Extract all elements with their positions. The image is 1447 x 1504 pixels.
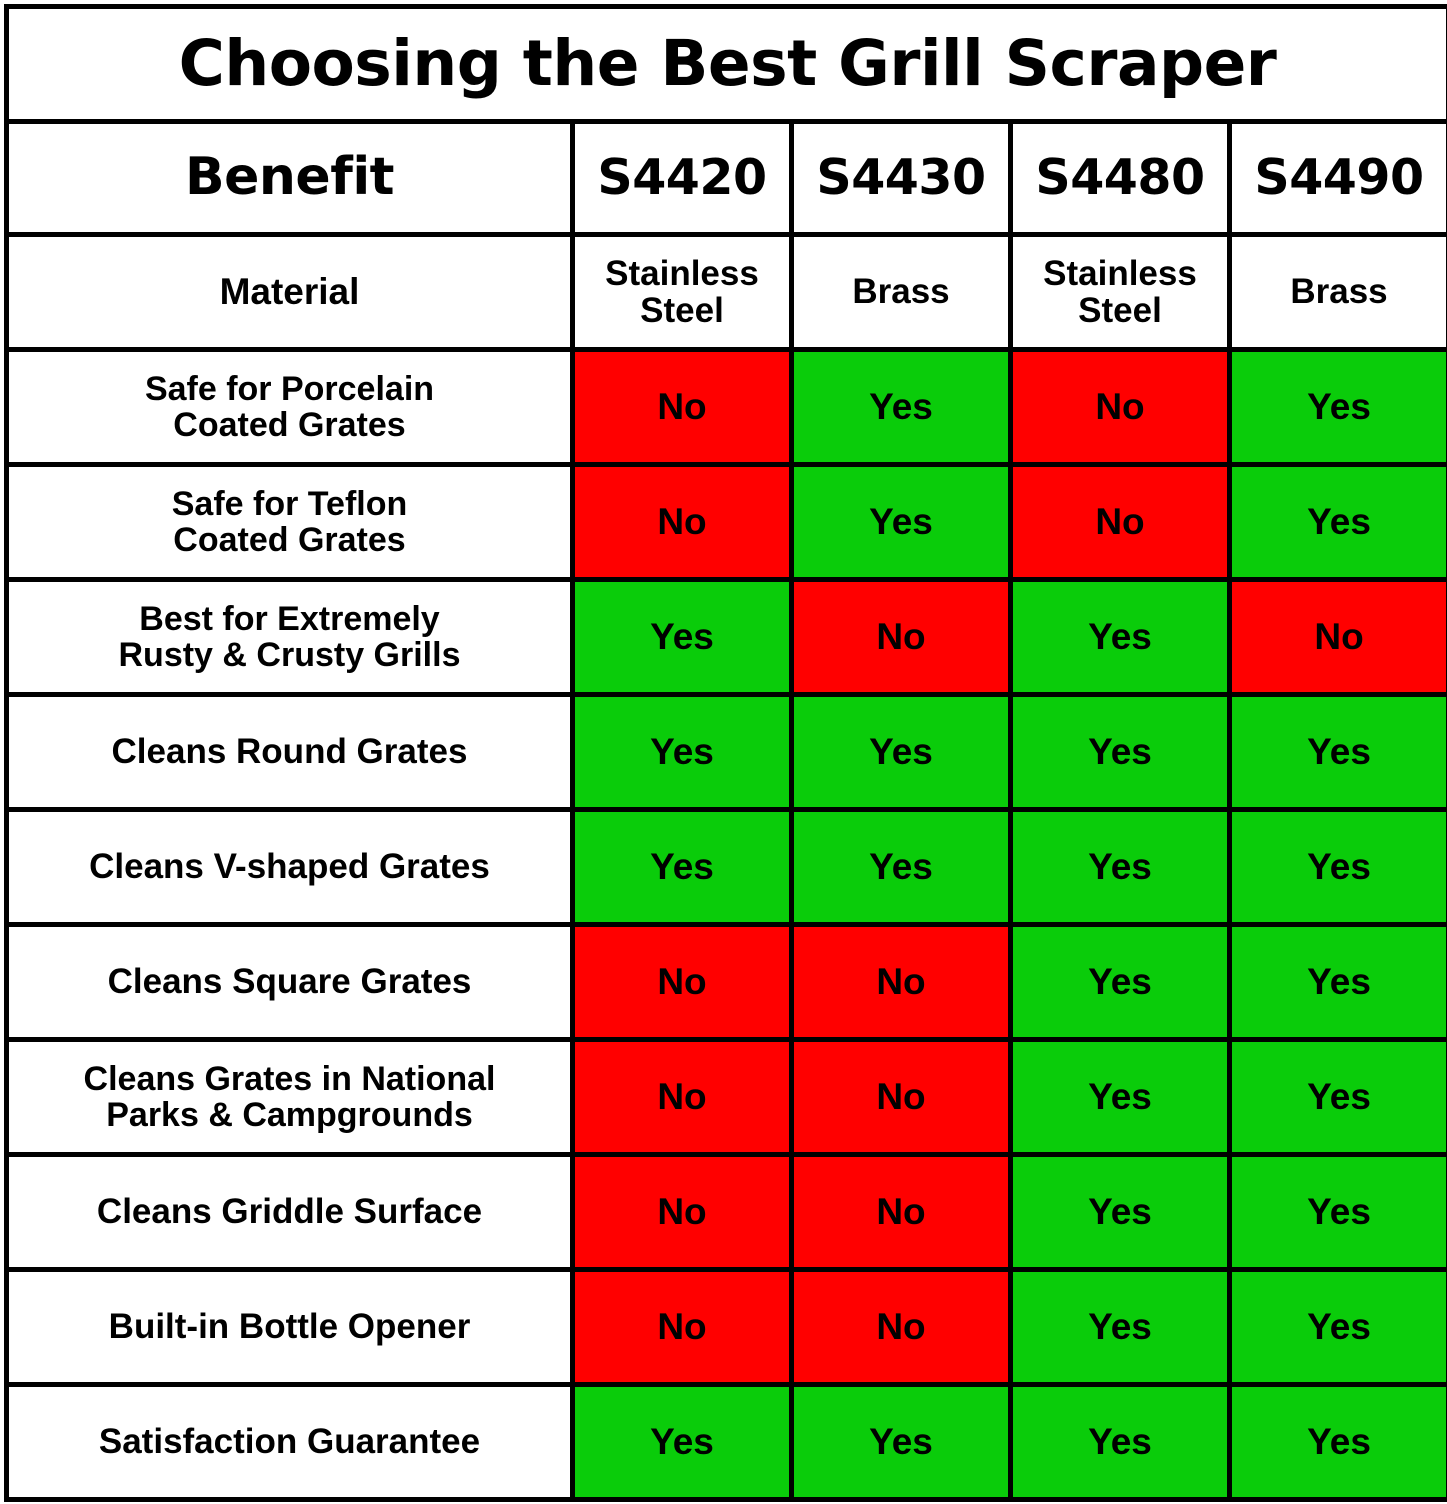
cell-value: No — [1011, 465, 1230, 580]
table-row: Cleans Griddle Surface No No Yes Yes — [7, 1155, 1447, 1270]
cell-material-s4490: Brass — [1230, 235, 1447, 350]
cell-value: Yes — [1230, 350, 1447, 465]
header-product-s4480: S4480 — [1011, 122, 1230, 235]
row-label: Cleans Round Grates — [7, 695, 573, 810]
cell-value: Yes — [573, 695, 792, 810]
cell-value: No — [573, 350, 792, 465]
cell-value: Yes — [1230, 695, 1447, 810]
cell-value: Yes — [792, 1385, 1011, 1500]
cell-value: No — [573, 1040, 792, 1155]
cell-value: Yes — [792, 350, 1011, 465]
page-title: Choosing the Best Grill Scraper — [7, 7, 1447, 122]
cell-value: No — [792, 1270, 1011, 1385]
cell-value: No — [792, 1040, 1011, 1155]
cell-value: No — [1011, 350, 1230, 465]
cell-material-s4420: Stainless Steel — [573, 235, 792, 350]
table-row: Cleans Round Grates Yes Yes Yes Yes — [7, 695, 1447, 810]
header-product-s4430: S4430 — [792, 122, 1011, 235]
row-label-line2: Parks & Campgrounds — [106, 1096, 473, 1134]
cell-value: No — [573, 925, 792, 1040]
cell-value: Yes — [1011, 1040, 1230, 1155]
row-label-line1: Cleans Grates in National — [84, 1060, 496, 1098]
cell-value: Yes — [1230, 925, 1447, 1040]
cell-value: Yes — [1011, 1155, 1230, 1270]
row-label: Satisfaction Guarantee — [7, 1385, 573, 1500]
row-label-line2: Rusty & Crusty Grills — [119, 636, 461, 674]
row-label-line1: Safe for Porcelain — [145, 370, 434, 408]
table-row: Best for Extremely Rusty & Crusty Grills… — [7, 580, 1447, 695]
cell-value: Yes — [1011, 1270, 1230, 1385]
cell-value: Yes — [1230, 1385, 1447, 1500]
cell-value: No — [573, 1270, 792, 1385]
row-label: Safe for Teflon Coated Grates — [7, 465, 573, 580]
cell-value: Yes — [792, 810, 1011, 925]
table-row: Safe for Teflon Coated Grates No Yes No … — [7, 465, 1447, 580]
cell-value: Yes — [1230, 1040, 1447, 1155]
row-label: Cleans V-shaped Grates — [7, 810, 573, 925]
row-label-line1: Best for Extremely — [139, 600, 439, 638]
cell-value: Yes — [1230, 465, 1447, 580]
row-label-line1: Safe for Teflon — [172, 485, 408, 523]
cell-value: No — [792, 1155, 1011, 1270]
row-label: Cleans Square Grates — [7, 925, 573, 1040]
cell-value: Yes — [573, 810, 792, 925]
cell-value: Yes — [1230, 1270, 1447, 1385]
table-row: Satisfaction Guarantee Yes Yes Yes Yes — [7, 1385, 1447, 1500]
cell-value: No — [573, 1155, 792, 1270]
row-label: Best for Extremely Rusty & Crusty Grills — [7, 580, 573, 695]
cell-value: Yes — [1011, 695, 1230, 810]
cell-material-s4430: Brass — [792, 235, 1011, 350]
cell-value: No — [573, 465, 792, 580]
table-row: Cleans Square Grates No No Yes Yes — [7, 925, 1447, 1040]
cell-value: Yes — [792, 695, 1011, 810]
row-label: Built-in Bottle Opener — [7, 1270, 573, 1385]
cell-material-s4480: Stainless Steel — [1011, 235, 1230, 350]
grill-scraper-comparison-table: Choosing the Best Grill Scraper Benefit … — [4, 4, 1447, 1502]
table-row: Cleans V-shaped Grates Yes Yes Yes Yes — [7, 810, 1447, 925]
cell-value: No — [792, 580, 1011, 695]
column-header-row: Benefit S4420 S4430 S4480 S4490 — [7, 122, 1447, 235]
title-row: Choosing the Best Grill Scraper — [7, 7, 1447, 122]
row-label: Cleans Grates in National Parks & Campgr… — [7, 1040, 573, 1155]
cell-value: Yes — [1011, 810, 1230, 925]
cell-value: Yes — [1011, 925, 1230, 1040]
cell-value: No — [792, 925, 1011, 1040]
row-label: Safe for Porcelain Coated Grates — [7, 350, 573, 465]
cell-value: Yes — [1011, 580, 1230, 695]
cell-value: Yes — [792, 465, 1011, 580]
table-row: Cleans Grates in National Parks & Campgr… — [7, 1040, 1447, 1155]
cell-value: Yes — [1230, 1155, 1447, 1270]
row-label-line2: Coated Grates — [173, 521, 405, 559]
cell-value: Yes — [573, 580, 792, 695]
cell-value: Yes — [573, 1385, 792, 1500]
table-row-material: Material Stainless Steel Brass Stainless… — [7, 235, 1447, 350]
cell-value: Yes — [1230, 810, 1447, 925]
header-product-s4490: S4490 — [1230, 122, 1447, 235]
comparison-table-page: Choosing the Best Grill Scraper Benefit … — [0, 4, 1447, 1504]
table-row: Built-in Bottle Opener No No Yes Yes — [7, 1270, 1447, 1385]
header-benefit: Benefit — [7, 122, 573, 235]
row-label: Cleans Griddle Surface — [7, 1155, 573, 1270]
row-label-material: Material — [7, 235, 573, 350]
header-product-s4420: S4420 — [573, 122, 792, 235]
row-label-line2: Coated Grates — [173, 406, 405, 444]
cell-value: No — [1230, 580, 1447, 695]
cell-value: Yes — [1011, 1385, 1230, 1500]
table-row: Safe for Porcelain Coated Grates No Yes … — [7, 350, 1447, 465]
